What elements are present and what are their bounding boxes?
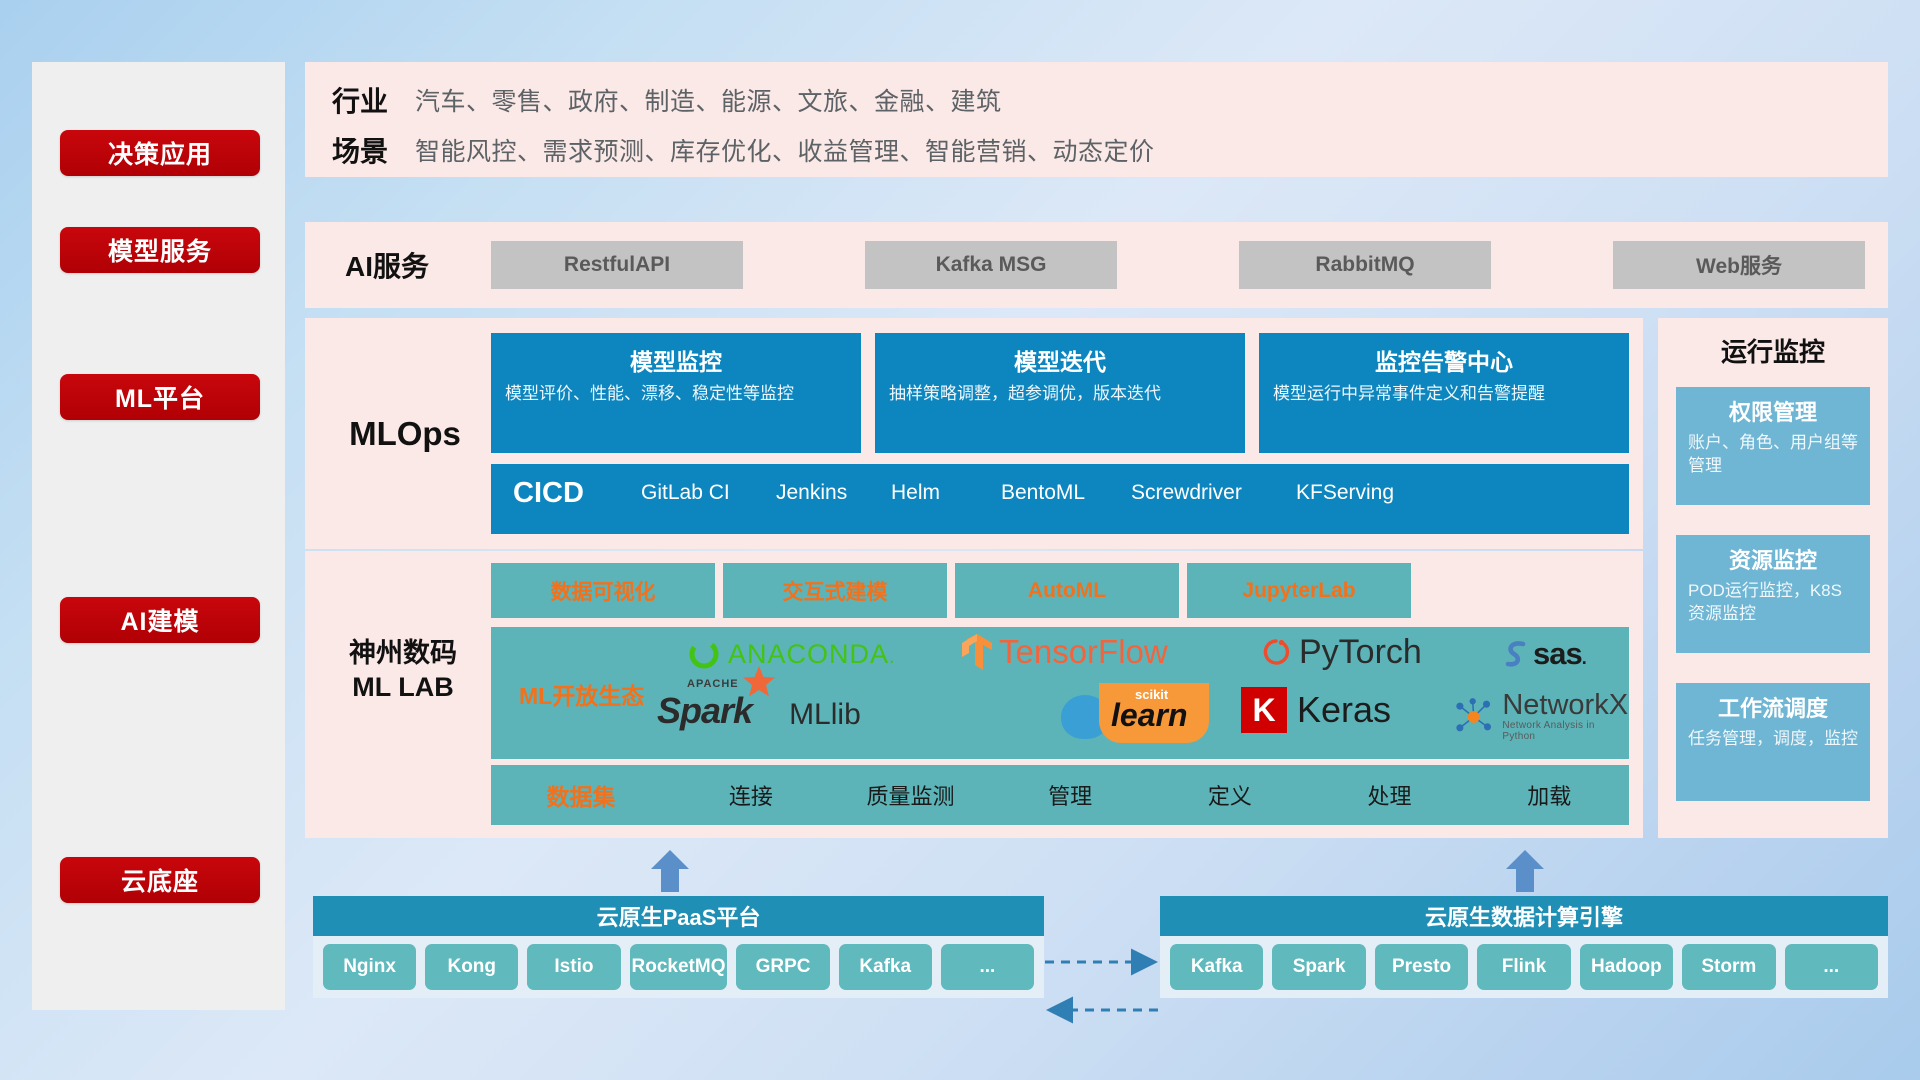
cloud-paas-title: 云原生PaaS平台 — [313, 896, 1044, 936]
cloud-chip-kafka-2[interactable]: Kafka — [1170, 944, 1263, 990]
scenario-label: 场景 — [305, 130, 415, 170]
logo-keras-text: Keras — [1297, 689, 1391, 731]
logo-networkx: NetworkX Network Analysis in Python — [1451, 691, 1629, 742]
cloud-chip-hadoop[interactable]: Hadoop — [1580, 944, 1673, 990]
service-box-label: Web服务 — [1696, 250, 1782, 280]
mlops-card-title: 模型监控 — [505, 343, 847, 377]
monitor-card-permission[interactable]: 权限管理 账户、角色、用户组等管理 — [1676, 387, 1870, 505]
logo-keras: K Keras — [1241, 687, 1391, 733]
rail-item-label: AI建模 — [120, 602, 199, 638]
cloud-chip-storm[interactable]: Storm — [1682, 944, 1775, 990]
mlops-card-title: 监控告警中心 — [1273, 343, 1615, 377]
cloud-paas-chips: Nginx Kong Istio RocketMQ GRPC Kafka ... — [313, 936, 1044, 998]
dataset-item-manage[interactable]: 管理 — [990, 779, 1150, 811]
cloud-data-engine-chips: Kafka Spark Presto Flink Hadoop Storm ..… — [1160, 936, 1888, 998]
spark-apache-text: APACHE — [687, 678, 739, 690]
ai-services-panel: AI服务 RestfulAPI Kafka MSG RabbitMQ Web服务 — [305, 222, 1888, 308]
cloud-paas-group: 云原生PaaS平台 Nginx Kong Istio RocketMQ GRPC… — [313, 896, 1044, 998]
mlops-card-title: 模型迭代 — [889, 343, 1231, 377]
cloud-chip-istio[interactable]: Istio — [527, 944, 620, 990]
pytorch-icon — [1261, 636, 1291, 670]
runtime-monitor-title: 运行监控 — [1658, 318, 1888, 369]
cicd-item-jenkins[interactable]: Jenkins — [776, 480, 894, 506]
keras-k-text: K — [1252, 692, 1275, 729]
monitor-card-workflow[interactable]: 工作流调度 任务管理，调度，监控 — [1676, 683, 1870, 801]
cloud-chip-rocketmq[interactable]: RocketMQ — [630, 944, 728, 990]
ai-modeling-panel: 神州数码 ML LAB 数据可视化 交互式建模 AutoML JupyterLa… — [305, 551, 1643, 838]
service-box-restfulapi[interactable]: RestfulAPI — [491, 241, 743, 289]
logo-mllib-text: MLlib — [789, 698, 861, 732]
dataset-label: 数据集 — [491, 778, 671, 812]
spark-icon: APACHE Spark — [657, 690, 752, 732]
ai-services-label: AI服务 — [317, 222, 457, 308]
dataset-item-process[interactable]: 处理 — [1310, 779, 1470, 811]
service-box-kafka-msg[interactable]: Kafka MSG — [865, 241, 1117, 289]
tool-box-automl[interactable]: AutoML — [955, 563, 1179, 618]
decision-apps-panel: 行业 汽车、零售、政府、制造、能源、文旅、金融、建筑 场景 智能风控、需求预测、… — [305, 62, 1888, 177]
sas-icon — [1501, 638, 1531, 670]
keras-icon: K — [1241, 687, 1287, 733]
tool-box-jupyterlab[interactable]: JupyterLab — [1187, 563, 1411, 618]
cloud-chip-kafka[interactable]: Kafka — [839, 944, 932, 990]
rail-item-label: 决策应用 — [108, 135, 212, 171]
logo-sas: sas. — [1501, 636, 1586, 672]
dataset-band: 数据集 连接 质量监测 管理 定义 处理 加载 — [491, 765, 1629, 825]
ml-lab-label-line1: 神州数码 — [313, 637, 493, 671]
industry-label: 行业 — [305, 80, 415, 120]
logo-tensorflow-text: TensorFlow — [999, 633, 1168, 671]
networkx-wordmark: NetworkX Network Analysis in Python — [1502, 691, 1629, 742]
mlops-card-desc: 模型评价、性能、漂移、稳定性等监控 — [505, 383, 847, 406]
arrow-up-data-engine-icon — [1505, 850, 1545, 892]
scenario-values: 智能风控、需求预测、库存优化、收益管理、智能营销、动态定价 — [415, 132, 1155, 168]
learn-text: learn — [1111, 697, 1187, 734]
mlops-panel: MLOps 模型监控 模型评价、性能、漂移、稳定性等监控 模型迭代 抽样策略调整… — [305, 318, 1643, 549]
dataset-item-load[interactable]: 加载 — [1469, 779, 1629, 811]
cloud-chip-grpc[interactable]: GRPC — [736, 944, 829, 990]
cicd-title: CICD — [513, 477, 584, 510]
networkx-tagline-text: Network Analysis in Python — [1502, 720, 1629, 742]
mlops-card-desc: 抽样策略调整，超参调优，版本迭代 — [889, 383, 1231, 406]
monitor-card-title: 资源监控 — [1688, 543, 1858, 575]
monitor-card-title: 工作流调度 — [1688, 691, 1858, 723]
rail-item-label: ML平台 — [115, 379, 205, 415]
cloud-data-engine-group: 云原生数据计算引擎 Kafka Spark Presto Flink Hadoo… — [1160, 896, 1888, 998]
cloud-chip-flink[interactable]: Flink — [1477, 944, 1570, 990]
cloud-data-engine-title: 云原生数据计算引擎 — [1160, 896, 1888, 936]
mlops-label: MLOps — [315, 318, 495, 549]
networkx-icon — [1451, 696, 1496, 738]
cloud-chip-more-2[interactable]: ... — [1785, 944, 1878, 990]
spark-wordmark: Spark — [657, 690, 752, 732]
logo-tensorflow: TensorFlow — [961, 633, 1168, 671]
tool-box-data-visualization[interactable]: 数据可视化 — [491, 563, 715, 618]
left-rail-panel: 决策应用 模型服务 ML平台 AI建模 云底座 — [32, 62, 285, 1010]
cicd-item-helm[interactable]: Helm — [891, 480, 1009, 506]
tool-box-label: 交互式建模 — [783, 576, 888, 606]
dataset-item-define[interactable]: 定义 — [1150, 779, 1310, 811]
logo-pytorch: PyTorch — [1261, 633, 1422, 672]
runtime-monitor-panel: 运行监控 权限管理 账户、角色、用户组等管理 资源监控 POD运行监控，K8S资… — [1658, 318, 1888, 838]
rail-item-ml-platform[interactable]: ML平台 — [60, 374, 260, 420]
rail-item-decision-apps[interactable]: 决策应用 — [60, 130, 260, 176]
logo-sas-text: sas. — [1533, 636, 1586, 672]
tensorflow-icon — [961, 633, 993, 671]
mlops-card-desc: 模型运行中异常事件定义和告警提醒 — [1273, 383, 1615, 406]
cloud-chip-kong[interactable]: Kong — [425, 944, 518, 990]
spark-star-icon — [741, 664, 777, 700]
cloud-chip-spark[interactable]: Spark — [1272, 944, 1365, 990]
rail-item-cloud-base[interactable]: 云底座 — [60, 857, 260, 903]
cicd-item-kfserving[interactable]: KFServing — [1296, 480, 1414, 506]
service-box-web-service[interactable]: Web服务 — [1613, 241, 1865, 289]
cicd-item-gitlab-ci[interactable]: GitLab CI — [641, 480, 759, 506]
tool-box-interactive-modeling[interactable]: 交互式建模 — [723, 563, 947, 618]
rail-item-ai-modeling[interactable]: AI建模 — [60, 597, 260, 643]
dataset-item-connect[interactable]: 连接 — [671, 779, 831, 811]
dataset-item-quality[interactable]: 质量监测 — [831, 779, 991, 811]
scenario-row: 场景 智能风控、需求预测、库存优化、收益管理、智能营销、动态定价 — [305, 130, 1888, 170]
tool-box-label: AutoML — [1028, 579, 1106, 603]
ml-ecosystem-label: ML开放生态 — [519, 677, 644, 711]
cloud-chip-more[interactable]: ... — [941, 944, 1034, 990]
logo-pytorch-text: PyTorch — [1299, 633, 1422, 672]
monitor-card-resource[interactable]: 资源监控 POD运行监控，K8S资源监控 — [1676, 535, 1870, 653]
monitor-card-desc: POD运行监控，K8S资源监控 — [1688, 580, 1858, 626]
tool-box-label: JupyterLab — [1242, 579, 1355, 603]
cicd-item-screwdriver[interactable]: Screwdriver — [1131, 480, 1249, 506]
monitor-card-desc: 账户、角色、用户组等管理 — [1688, 432, 1858, 478]
anaconda-icon — [687, 637, 721, 671]
arrow-up-paas-icon — [650, 850, 690, 892]
cicd-item-bentoml[interactable]: BentoML — [1001, 480, 1119, 506]
cloud-chip-presto[interactable]: Presto — [1375, 944, 1468, 990]
logo-anaconda: ANACONDA. — [687, 637, 896, 671]
mlops-card-alert-center[interactable]: 监控告警中心 模型运行中异常事件定义和告警提醒 — [1259, 333, 1629, 453]
cicd-bar: CICD GitLab CI Jenkins Helm BentoML Scre… — [491, 464, 1629, 534]
service-box-label: RestfulAPI — [564, 253, 670, 277]
rail-item-model-service[interactable]: 模型服务 — [60, 227, 260, 273]
rail-item-label: 云底座 — [121, 862, 199, 898]
tool-box-label: 数据可视化 — [551, 576, 656, 606]
industry-values: 汽车、零售、政府、制造、能源、文旅、金融、建筑 — [415, 82, 1002, 118]
monitor-card-title: 权限管理 — [1688, 395, 1858, 427]
ml-lab-label: 神州数码 ML LAB — [313, 637, 493, 705]
service-box-rabbitmq[interactable]: RabbitMQ — [1239, 241, 1491, 289]
service-box-label: Kafka MSG — [936, 253, 1047, 277]
networkx-name-text: NetworkX — [1502, 691, 1629, 720]
cloud-bidirectional-connector — [1040, 940, 1170, 1050]
service-box-label: RabbitMQ — [1315, 253, 1414, 277]
industry-row: 行业 汽车、零售、政府、制造、能源、文旅、金融、建筑 — [305, 80, 1888, 120]
cloud-chip-nginx[interactable]: Nginx — [323, 944, 416, 990]
mlops-card-model-iteration[interactable]: 模型迭代 抽样策略调整，超参调优，版本迭代 — [875, 333, 1245, 453]
ml-lab-label-line2: ML LAB — [313, 671, 493, 705]
mlops-card-model-monitoring[interactable]: 模型监控 模型评价、性能、漂移、稳定性等监控 — [491, 333, 861, 453]
ml-ecosystem-band: ML开放生态 ANACONDA. TensorFlow PyTorch — [491, 627, 1629, 759]
rail-item-label: 模型服务 — [108, 232, 212, 268]
logo-spark-mllib: APACHE Spark MLlib — [657, 690, 861, 732]
monitor-card-desc: 任务管理，调度，监控 — [1688, 728, 1858, 751]
